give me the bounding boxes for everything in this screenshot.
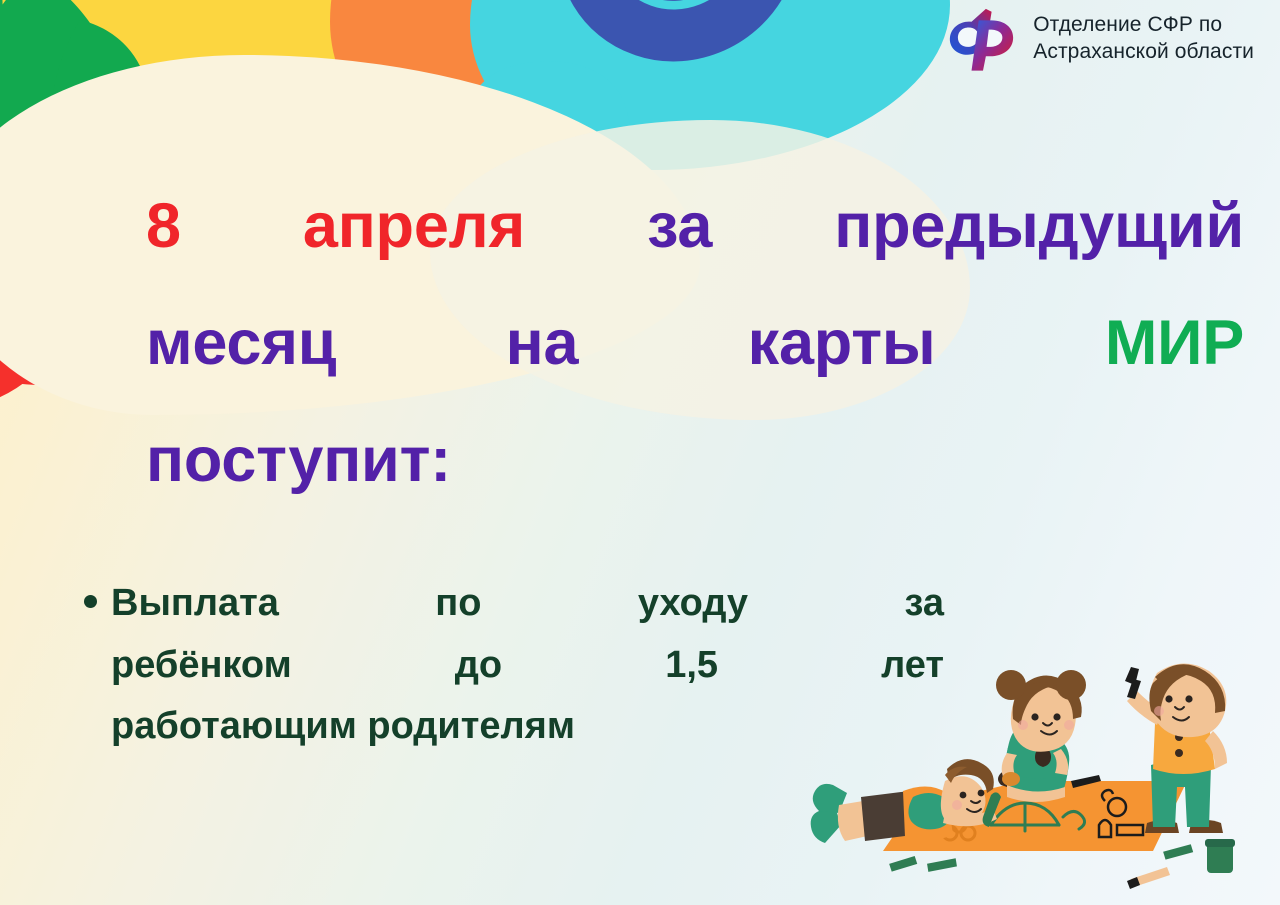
poster-canvas: Отделение СФР по Астраханской области 8 … <box>0 0 1280 905</box>
crayon-right <box>1163 844 1194 860</box>
bullet-list: Выплата по уходу за ребёнком до 1,5 лет … <box>84 573 944 758</box>
headline-line-3-text: поступит: <box>146 425 451 495</box>
blue-spiral-blob <box>540 0 790 80</box>
bullet-text: Выплата по уходу за ребёнком до 1,5 лет … <box>111 573 944 758</box>
headline-date: 8 апреля <box>146 191 525 261</box>
bullet-line-2: ребёнком до 1,5 лет <box>111 635 944 697</box>
headline-line-2: месяц на карты МИР <box>146 285 1244 402</box>
brush-bottom <box>1127 867 1170 889</box>
headline-line-3: поступит: <box>146 402 1244 519</box>
headline-line-2-text: месяц на карты <box>146 308 936 378</box>
bullet-line-3: работающим родителям <box>111 696 944 758</box>
headline-mir: МИР <box>1105 308 1244 378</box>
crayons-left <box>889 856 958 875</box>
bullet-dot-icon <box>84 595 97 608</box>
headline: 8 апреля за предыдущий месяц на карты МИ… <box>146 168 1244 520</box>
list-item: Выплата по уходу за ребёнком до 1,5 лет … <box>84 573 944 758</box>
org-name-label: Отделение СФР по Астраханской области <box>1033 12 1254 66</box>
bullet-line-1: Выплата по уходу за <box>111 573 944 635</box>
headline-line-1: 8 апреля за предыдущий <box>146 168 1244 285</box>
headline-line-1-rest: за предыдущий <box>647 191 1244 261</box>
sfr-logo-icon <box>947 6 1019 72</box>
header: Отделение СФР по Астраханской области <box>947 6 1254 72</box>
paint-jar <box>1205 839 1235 873</box>
